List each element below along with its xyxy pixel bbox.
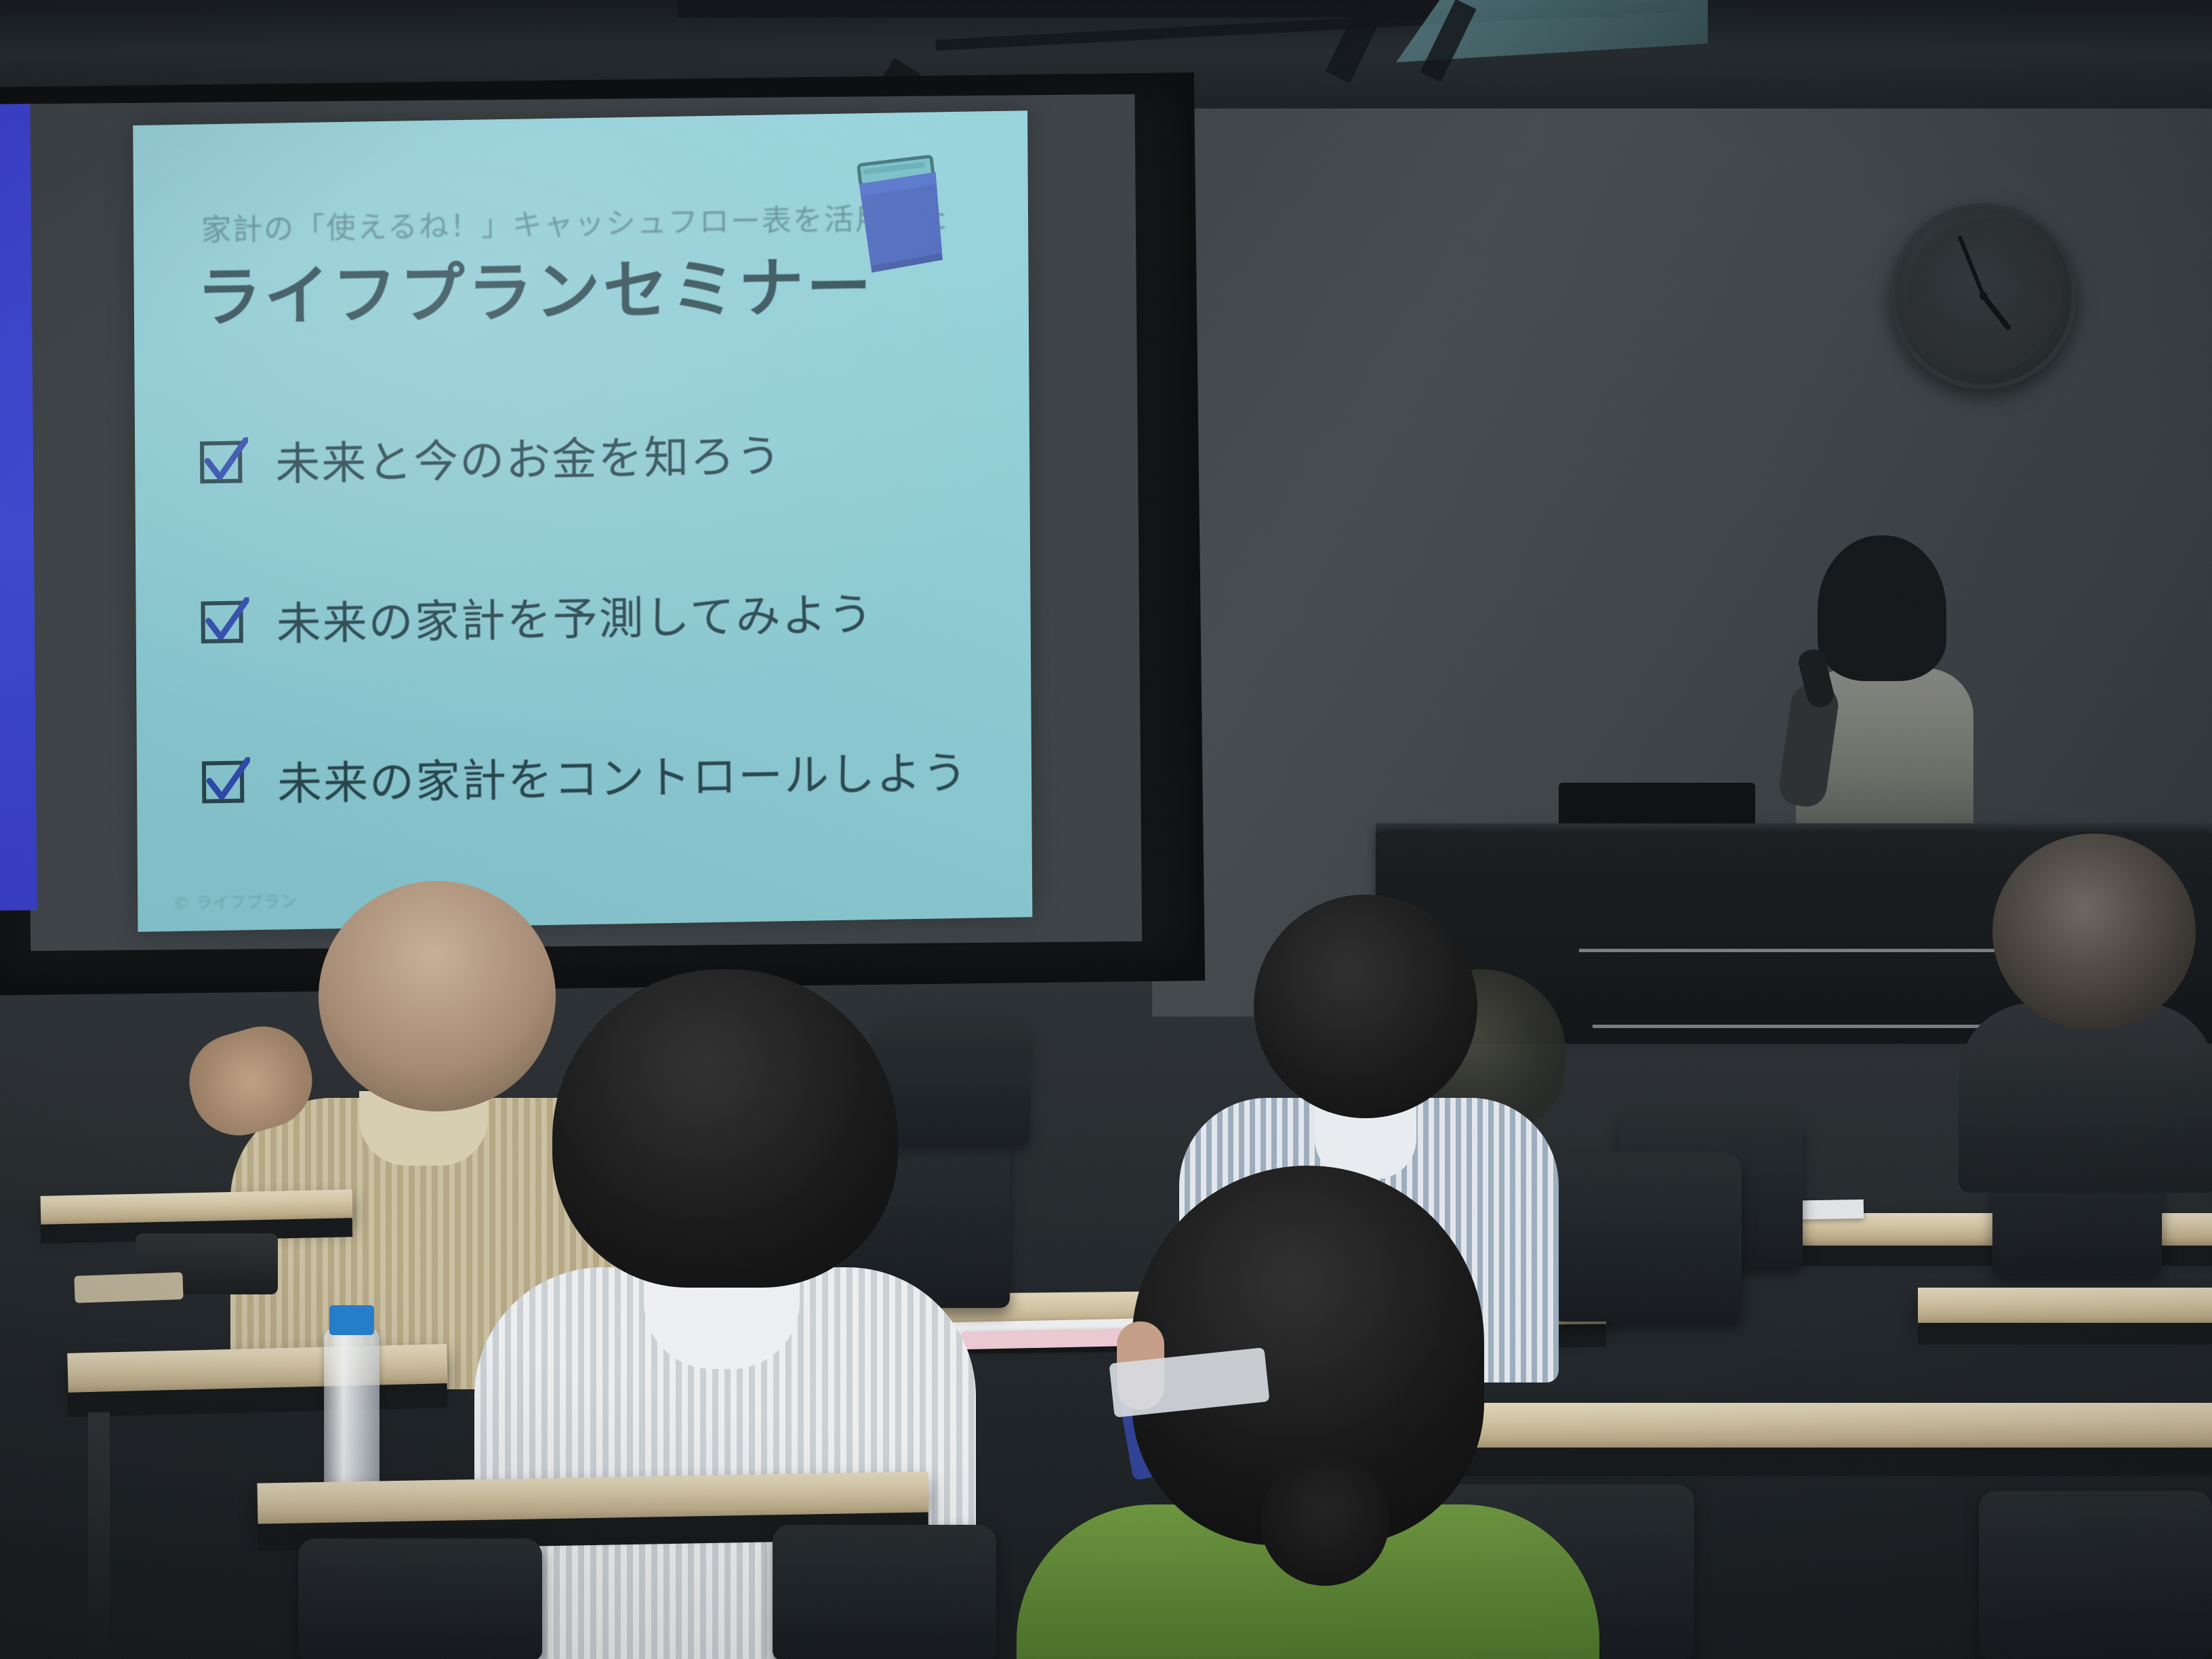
checkbox-checked-icon <box>200 597 249 645</box>
clock-hour-hand <box>1982 295 2011 331</box>
slide-bullet-item: 未来の家計を予測してみよう <box>200 576 1013 655</box>
classroom-chair <box>773 1525 996 1659</box>
attendee-head <box>552 969 898 1288</box>
slide-bullet-item: 未来と今のお金を知ろう <box>199 416 1012 495</box>
water-bottle <box>324 1328 380 1498</box>
presenter-hair <box>1818 535 1946 681</box>
clock-minute-hand <box>1957 235 1986 297</box>
classroom-chair <box>1979 1491 2212 1659</box>
attendee-head <box>1254 895 1477 1118</box>
desk-edge <box>1918 1323 2212 1345</box>
checkbox-checked-icon <box>201 757 250 805</box>
desk-item-book <box>74 1272 183 1303</box>
presentation-slide: 家計の「使えるね！」キャッシュフロー表を活用した ライフプランセミナー <box>133 110 1032 932</box>
checkbox-checked-icon <box>199 437 248 485</box>
attendee-hair-bun <box>1261 1457 1389 1586</box>
projection-screen-board: 家計の「使えるね！」キャッシュフロー表を活用した ライフプランセミナー <box>23 94 1142 951</box>
slide-title: ライフプランセミナー <box>196 234 874 340</box>
slide-bullet-item: 未来の家計をコントロールしよう <box>201 736 1015 815</box>
classroom-chair <box>1552 1152 1742 1322</box>
seminar-room-photo: 家計の「使えるね！」キャッシュフロー表を活用した ライフプランセミナー <box>0 0 2212 1659</box>
presenter-standing <box>1789 535 1979 847</box>
classroom-desk <box>1918 1288 2212 1326</box>
slide-bullet-list: 未来と今のお金を知ろう 未来の家計を予測してみよう <box>199 416 1015 909</box>
clock-face <box>1906 219 2061 373</box>
wall-clock <box>1891 203 2076 389</box>
attendee-head <box>1992 834 2196 1030</box>
attendee-torso <box>1959 1003 2212 1193</box>
attendee-far-right <box>1965 834 2212 1186</box>
slide-bullet-text: 未来と今のお金を知ろう <box>275 419 783 493</box>
clock-center-pin <box>1980 292 1988 300</box>
slide-bullet-text: 未来の家計をコントロールしよう <box>277 737 969 813</box>
slide-bullet-text: 未来の家計を予測してみよう <box>276 578 874 653</box>
slide-left-band <box>0 104 37 911</box>
desk-leg <box>88 1412 110 1656</box>
classroom-chair <box>298 1538 542 1659</box>
projection-screen-frame: 家計の「使えるね！」キャッシュフロー表を活用した ライフプランセミナー <box>0 73 1205 996</box>
bottle-cap-icon <box>329 1305 374 1335</box>
blue-notebook-icon <box>853 151 951 276</box>
